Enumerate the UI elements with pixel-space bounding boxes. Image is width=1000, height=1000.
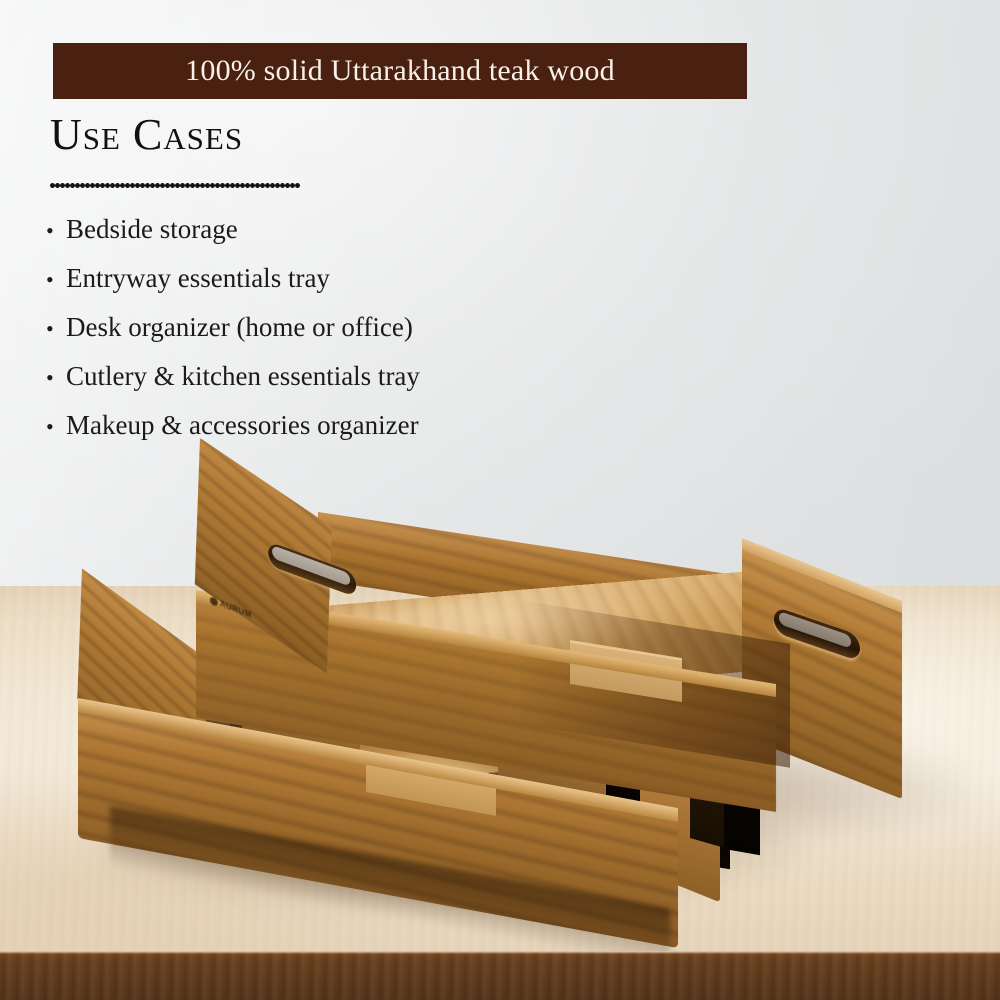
list-item: • Cutlery & kitchen essentials tray [46,363,666,390]
bullet-icon: • [46,220,66,242]
use-cases-list: • Bedside storage • Entryway essentials … [46,216,666,461]
use-case-label: Entryway essentials tray [66,265,330,292]
title-dotted-divider [50,182,300,189]
product-infographic-page: AURUM 100% solid Uttarakhand teak wood U… [0,0,1000,1000]
list-item: • Bedside storage [46,216,666,243]
bullet-icon: • [46,318,66,340]
bullet-icon: • [46,416,66,438]
use-case-label: Cutlery & kitchen essentials tray [66,363,420,390]
bullet-icon: • [46,269,66,291]
material-banner: 100% solid Uttarakhand teak wood [53,43,747,99]
bullet-icon: • [46,367,66,389]
list-item: • Makeup & accessories organizer [46,412,666,439]
page-title: Use Cases [50,112,243,158]
use-case-label: Desk organizer (home or office) [66,314,413,341]
list-item: • Entryway essentials tray [46,265,666,292]
list-item: • Desk organizer (home or office) [46,314,666,341]
text-overlay: 100% solid Uttarakhand teak wood Use Cas… [0,0,1000,1000]
use-case-label: Bedside storage [66,216,238,243]
use-case-label: Makeup & accessories organizer [66,412,419,439]
material-banner-text: 100% solid Uttarakhand teak wood [185,56,615,86]
